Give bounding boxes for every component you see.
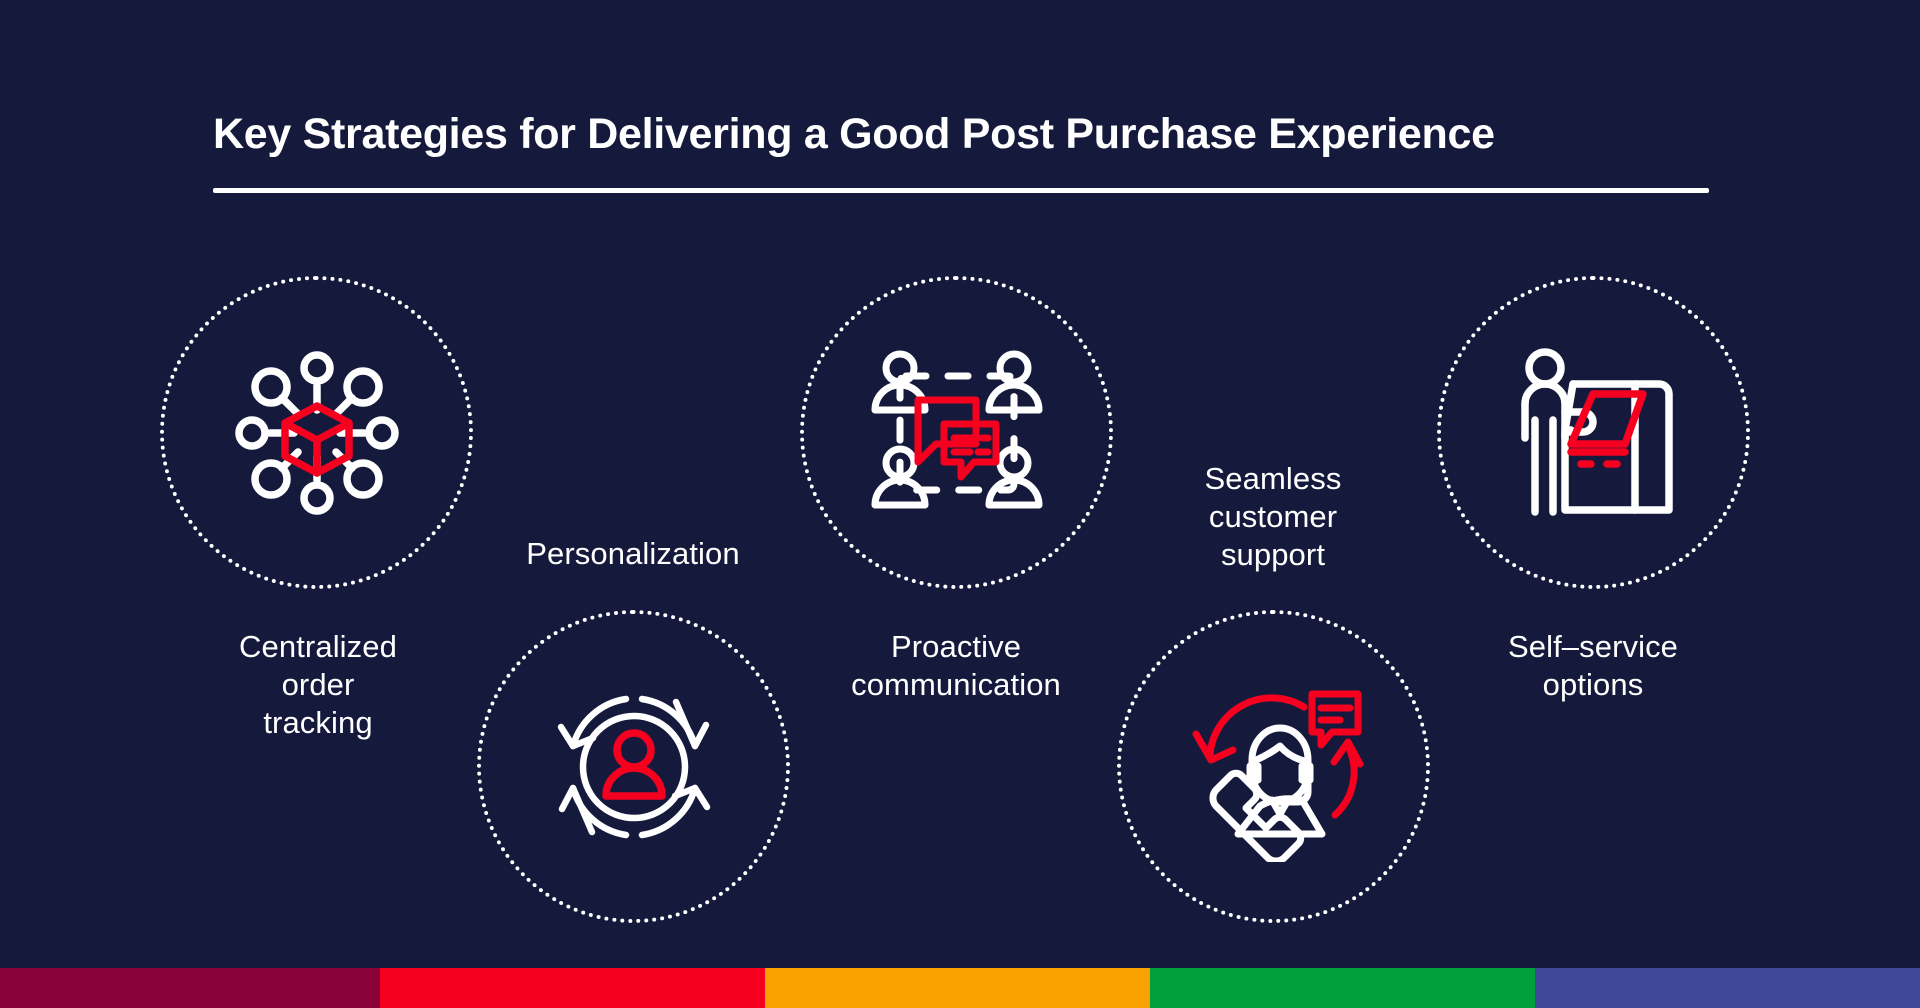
item-label-proactive-communication: Proactive communication bbox=[801, 628, 1111, 704]
title-underline-rule bbox=[213, 188, 1709, 193]
color-bar-segment-blue bbox=[1535, 968, 1920, 1008]
support-agent-headset-icon bbox=[1180, 672, 1370, 862]
page-title: Key Strategies for Delivering a Good Pos… bbox=[213, 110, 1709, 159]
color-bar-segment-green bbox=[1150, 968, 1535, 1008]
item-label-centralized-order-tracking: Centralized order tracking bbox=[163, 628, 473, 741]
color-bar-segment-red bbox=[380, 968, 765, 1008]
bottom-color-bar bbox=[0, 968, 1920, 1008]
title-block: Key Strategies for Delivering a Good Pos… bbox=[213, 110, 1709, 193]
self-service-kiosk-icon bbox=[1501, 340, 1687, 526]
item-label-personalization: Personalization bbox=[478, 535, 788, 573]
user-refresh-cycle-icon bbox=[543, 676, 725, 858]
slide-canvas: Key Strategies for Delivering a Good Pos… bbox=[0, 0, 1920, 1008]
network-package-icon bbox=[222, 338, 412, 528]
item-label-seamless-customer-support: Seamless customer support bbox=[1118, 460, 1428, 573]
group-chat-bubbles-icon bbox=[862, 338, 1052, 528]
color-bar-segment-maroon bbox=[0, 968, 380, 1008]
item-label-self-service-options: Self–service options bbox=[1438, 628, 1748, 704]
color-bar-segment-orange bbox=[765, 968, 1150, 1008]
